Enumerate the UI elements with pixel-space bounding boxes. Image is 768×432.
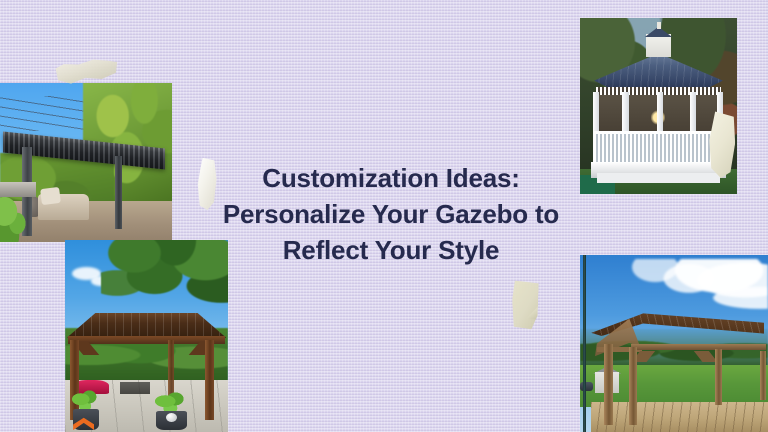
orange-roof-chevron-logo-icon <box>73 417 94 430</box>
pavilion-post <box>205 340 214 421</box>
photo-timber-frame-pavilion[interactable] <box>580 255 768 432</box>
title-line-3: Reflect Your Style <box>186 232 596 268</box>
raised-planter-wall <box>0 182 36 198</box>
tape-strip-center <box>511 281 539 330</box>
photo-modern-dark-pergola[interactable] <box>0 83 172 242</box>
title-line-2: Personalize Your Gazebo to <box>186 196 596 232</box>
timber-post <box>604 344 612 425</box>
timber-post <box>715 349 722 406</box>
deck-skirt <box>597 173 719 184</box>
timber-post <box>629 347 637 425</box>
sofa-pillow <box>40 187 61 205</box>
chevron-shape <box>73 417 94 430</box>
tape-folded-corner <box>526 306 538 320</box>
side-girt-beam <box>631 344 766 350</box>
photo-cedar-pavilion-metal-roof[interactable] <box>65 240 228 432</box>
foreground-pole <box>583 255 586 432</box>
tape-strip-top-left <box>55 56 119 85</box>
pergola-post-right <box>115 156 122 229</box>
page-title: Customization Ideas: Personalize Your Ga… <box>186 160 596 268</box>
patio-bench <box>120 382 149 394</box>
roof-finial <box>657 22 661 29</box>
title-line-1: Customization Ideas: <box>186 160 596 196</box>
banner-canvas: Customization Ideas: Personalize Your Ga… <box>0 0 768 432</box>
deck-board-lines <box>591 402 768 432</box>
tropical-plant <box>0 197 34 242</box>
timber-post <box>760 351 766 401</box>
